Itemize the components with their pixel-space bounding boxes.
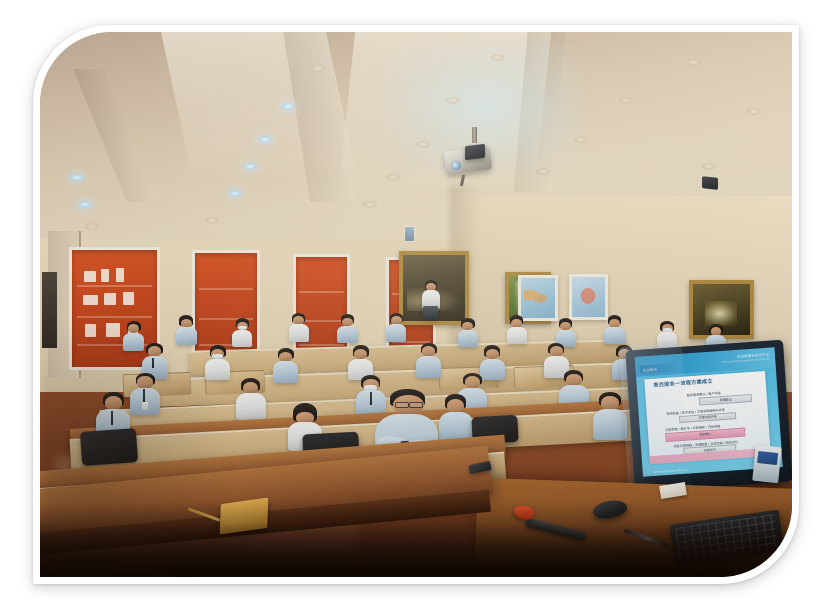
wall-speaker-icon <box>465 144 485 160</box>
attendee <box>288 313 309 342</box>
china-map <box>569 274 608 320</box>
projector-mount <box>472 127 477 143</box>
glasses-icon <box>395 402 409 408</box>
downlight <box>574 136 588 143</box>
downlight <box>311 65 325 72</box>
downlight <box>85 223 99 230</box>
attendee <box>593 392 627 440</box>
attendee <box>130 373 160 415</box>
downlight <box>491 54 505 61</box>
meeting-room-photo: 企业标识 培训管理信息化平台 Training Management Platf… <box>40 32 792 577</box>
downlight <box>416 141 430 148</box>
attendee <box>604 315 625 344</box>
slide-brand-right-sub: Training Management Platform <box>722 358 770 364</box>
downlight <box>243 163 257 170</box>
attendee <box>416 343 441 378</box>
office-chair <box>80 428 138 466</box>
downlight <box>258 136 272 143</box>
ceiling-beam-3 <box>73 69 157 202</box>
projector-lens-icon <box>450 160 461 170</box>
attendee <box>337 314 358 343</box>
foreground-shadow <box>40 523 792 578</box>
slide-title: 售后服务一流程方案成立 <box>654 378 714 389</box>
world-map <box>518 275 559 321</box>
downlight <box>281 103 295 110</box>
photo-card: 企业标识 培训管理信息化平台 Training Management Platf… <box>33 25 799 584</box>
screenshot-root: 企业标识 培训管理信息化平台 Training Management Platf… <box>0 0 827 609</box>
attendee <box>273 348 298 383</box>
left-dark-recess <box>42 272 58 348</box>
wall-speaker-icon <box>702 176 718 190</box>
attendee-masked <box>205 345 230 380</box>
standing-woman-back <box>420 280 442 320</box>
attendee <box>457 318 478 347</box>
downlight <box>228 190 242 197</box>
attendee-masked <box>657 321 678 350</box>
attendee <box>506 315 527 344</box>
wall-control-panel <box>404 226 415 242</box>
attendee <box>175 315 197 345</box>
attendee <box>236 378 266 420</box>
display-niche-3 <box>293 254 350 360</box>
attendee-masked <box>232 318 253 347</box>
downlight <box>70 174 84 181</box>
attendee <box>439 394 473 442</box>
downlight <box>78 201 92 208</box>
slide-footer-url: www.trainplat.com.cn <box>654 468 687 474</box>
downlight <box>386 174 400 181</box>
downlight <box>702 163 716 170</box>
attendee <box>386 313 407 342</box>
glasses-icon <box>409 402 423 408</box>
boxed-product <box>753 445 783 484</box>
